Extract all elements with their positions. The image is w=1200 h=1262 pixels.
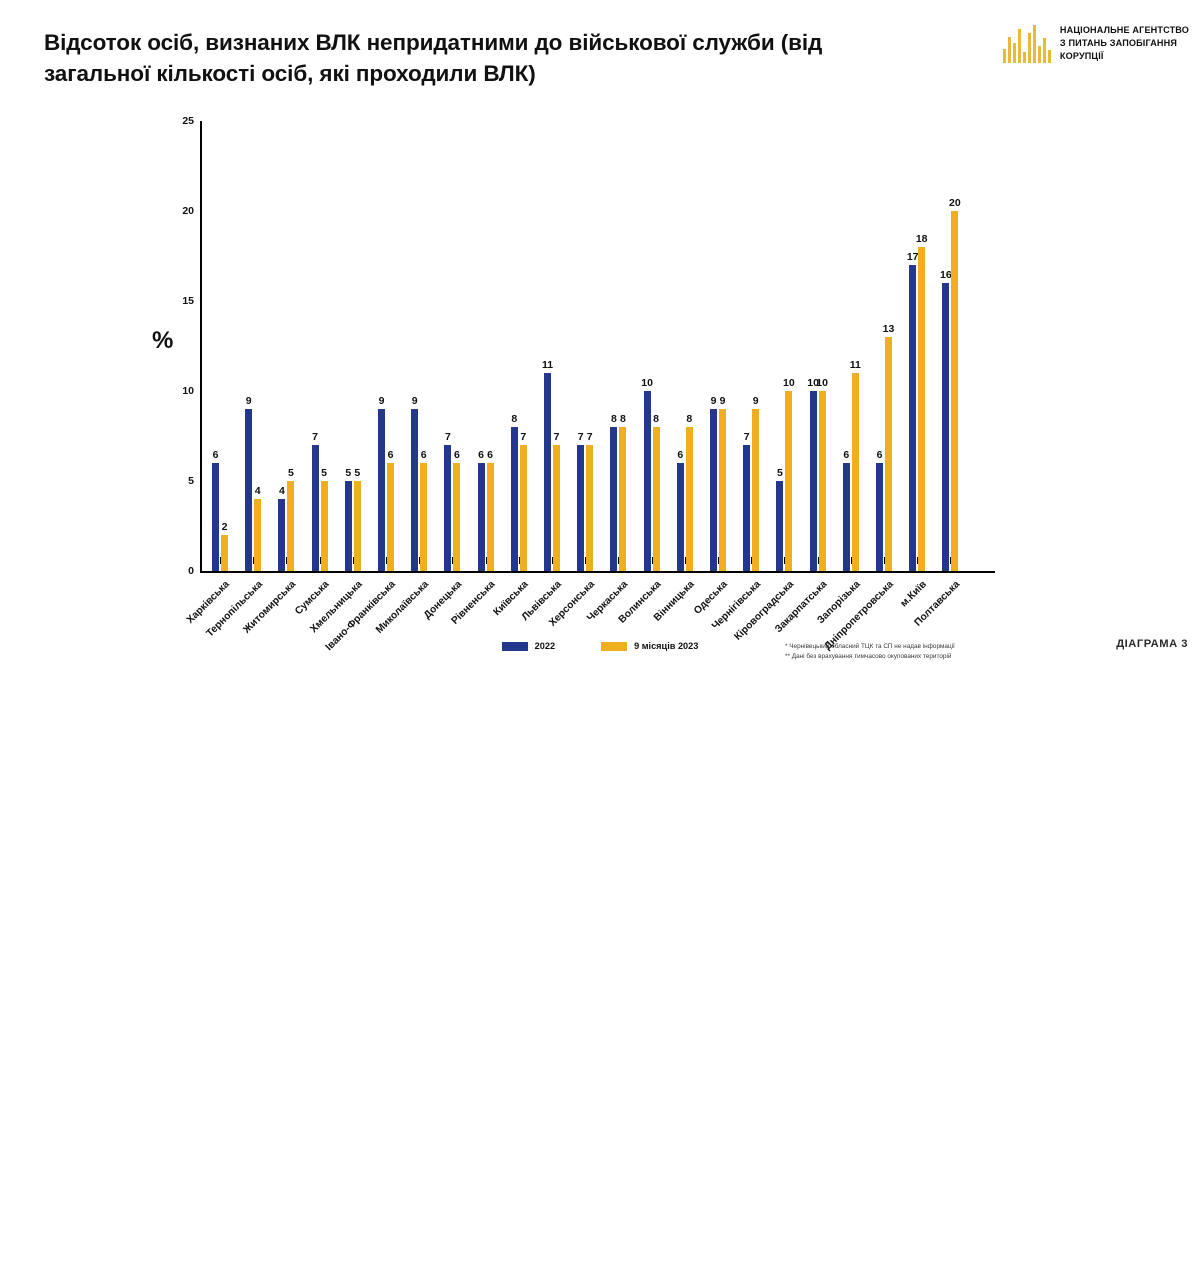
- bar-value-label: 10: [783, 377, 795, 389]
- y-axis-tick-label: 25: [160, 115, 194, 127]
- bar-2023: 9: [752, 409, 759, 571]
- bar-2023: 9: [719, 409, 726, 571]
- organization-logo: НАЦІОНАЛЬНЕ АГЕНТСТВО З ПИТАНЬ ЗАПОБІГАН…: [1003, 24, 1189, 64]
- bar-2023: 8: [653, 427, 660, 571]
- bar-2022: 5: [345, 481, 352, 571]
- x-axis-line: [200, 571, 995, 573]
- bar-group: 108: [644, 121, 662, 571]
- x-axis-tick: [851, 557, 852, 564]
- bar-group: 75: [312, 121, 330, 571]
- bar-value-label: 5: [288, 467, 294, 479]
- bar-group: 117: [544, 121, 562, 571]
- bar-value-label: 8: [611, 413, 617, 425]
- diagram-caption: ДІАГРАМА 3: [1116, 638, 1188, 650]
- bar-value-label: 9: [246, 395, 252, 407]
- bar-2022: 7: [743, 445, 750, 571]
- bar-value-label: 6: [421, 449, 427, 461]
- bar-value-label: 7: [554, 431, 560, 443]
- bar-value-label: 9: [379, 395, 385, 407]
- bar-2022: 7: [444, 445, 451, 571]
- bar-value-label: 5: [345, 467, 351, 479]
- bar-group: 96: [411, 121, 429, 571]
- bar-2023: 7: [586, 445, 593, 571]
- x-axis-tick: [552, 557, 553, 564]
- bar-group: 510: [776, 121, 794, 571]
- bar-group: 1010: [810, 121, 828, 571]
- bar-group: 76: [444, 121, 462, 571]
- x-axis-tick: [585, 557, 586, 564]
- bar-2023: 6: [420, 463, 427, 571]
- plot-area: 6294457555969676668711777881086899795101…: [200, 121, 1000, 571]
- bar-group: 55: [345, 121, 363, 571]
- bar-group: 613: [876, 121, 894, 571]
- bar-value-label: 10: [641, 377, 653, 389]
- bar-2023: 7: [553, 445, 560, 571]
- bar-group: 87: [511, 121, 529, 571]
- bar-value-label: 6: [843, 449, 849, 461]
- x-axis-tick: [220, 557, 221, 564]
- y-axis-title: %: [152, 327, 173, 355]
- x-axis-tick: [419, 557, 420, 564]
- x-axis-tick: [486, 557, 487, 564]
- bar-2022: 10: [810, 391, 817, 571]
- bar-2022: 9: [245, 409, 252, 571]
- y-axis-tick-label: 15: [160, 295, 194, 307]
- bar-value-label: 7: [520, 431, 526, 443]
- bar-value-label: 4: [255, 485, 261, 497]
- chart-footnotes: * Чернівецький обласний ТЦК та СП не над…: [785, 642, 955, 662]
- bar-2022: 9: [710, 409, 717, 571]
- x-axis-tick: [286, 557, 287, 564]
- bar-value-label: 5: [777, 467, 783, 479]
- bar-value-label: 6: [388, 449, 394, 461]
- x-axis-tick: [386, 557, 387, 564]
- bar-group: 611: [843, 121, 861, 571]
- bar-2022: 5: [776, 481, 783, 571]
- bar-2022: 6: [478, 463, 485, 571]
- bar-value-label: 8: [686, 413, 692, 425]
- bar-2022: 9: [411, 409, 418, 571]
- bar-2022: 6: [212, 463, 219, 571]
- bar-value-label: 13: [883, 323, 895, 335]
- bar-value-label: 11: [542, 359, 553, 371]
- bar-value-label: 10: [816, 377, 828, 389]
- bar-2023: 5: [287, 481, 294, 571]
- bar-group: 62: [212, 121, 230, 571]
- bar-2023: 7: [520, 445, 527, 571]
- bar-value-label: 6: [877, 449, 883, 461]
- bar-value-label: 8: [620, 413, 626, 425]
- bar-2023: 11: [852, 373, 859, 571]
- chart-container: % 0510152025 629445755596967666871177788…: [0, 105, 1200, 671]
- bar-value-label: 9: [711, 395, 717, 407]
- bar-group: 1718: [909, 121, 927, 571]
- bar-2023: 20: [951, 211, 958, 571]
- bar-group: 45: [278, 121, 296, 571]
- bar-group: 99: [710, 121, 728, 571]
- bar-2023: 10: [785, 391, 792, 571]
- x-axis-tick: [618, 557, 619, 564]
- bar-value-label: 9: [412, 395, 418, 407]
- x-axis-tick: [652, 557, 653, 564]
- page-title: Відсоток осіб, визнаних ВЛК непридатними…: [44, 28, 864, 89]
- x-axis-tick: [884, 557, 885, 564]
- bar-value-label: 6: [213, 449, 219, 461]
- bar-2022: 7: [312, 445, 319, 571]
- bar-value-label: 6: [454, 449, 460, 461]
- bar-2023: 13: [885, 337, 892, 571]
- bar-value-label: 9: [753, 395, 759, 407]
- bar-value-label: 6: [487, 449, 493, 461]
- x-axis-tick: [718, 557, 719, 564]
- bar-value-label: 6: [677, 449, 683, 461]
- bar-value-label: 7: [312, 431, 318, 443]
- bar-2022: 16: [942, 283, 949, 571]
- bar-2022: 11: [544, 373, 551, 571]
- bar-value-label: 16: [940, 269, 952, 281]
- bar-value-label: 5: [354, 467, 360, 479]
- y-axis-tick-label: 20: [160, 205, 194, 217]
- y-axis-tick-label: 0: [160, 565, 194, 577]
- logo-text: НАЦІОНАЛЬНЕ АГЕНТСТВО З ПИТАНЬ ЗАПОБІГАН…: [1060, 24, 1189, 64]
- bar-2022: 17: [909, 265, 916, 571]
- bar-2023: 6: [487, 463, 494, 571]
- bar-group: 96: [378, 121, 396, 571]
- x-axis-category-label: Дніпропетровська: [260, 579, 896, 1215]
- bar-group: 88: [610, 121, 628, 571]
- x-axis-tick: [950, 557, 951, 564]
- bar-2022: 6: [876, 463, 883, 571]
- x-axis-tick: [685, 557, 686, 564]
- y-axis-tick-label: 10: [160, 385, 194, 397]
- bar-value-label: 8: [653, 413, 659, 425]
- bar-group: 1620: [942, 121, 960, 571]
- bar-group: 66: [478, 121, 496, 571]
- bar-2023: 6: [387, 463, 394, 571]
- bar-2022: 10: [644, 391, 651, 571]
- bar-2023: 2: [221, 535, 228, 571]
- bar-2023: 10: [819, 391, 826, 571]
- bar-2022: 4: [278, 499, 285, 571]
- bar-2023: 5: [321, 481, 328, 571]
- bar-2022: 8: [511, 427, 518, 571]
- bar-value-label: 8: [511, 413, 517, 425]
- bar-value-label: 18: [916, 233, 928, 245]
- bar-value-label: 4: [279, 485, 285, 497]
- bar-2023: 18: [918, 247, 925, 571]
- x-axis-tick: [253, 557, 254, 564]
- x-axis-tick: [519, 557, 520, 564]
- bar-2023: 4: [254, 499, 261, 571]
- bar-group: 79: [743, 121, 761, 571]
- bar-2022: 7: [577, 445, 584, 571]
- bar-group: 68: [677, 121, 695, 571]
- bar-value-label: 7: [445, 431, 451, 443]
- bar-2022: 9: [378, 409, 385, 571]
- bar-2023: 8: [686, 427, 693, 571]
- y-axis-tick-label: 5: [160, 475, 194, 487]
- bar-2022: 6: [843, 463, 850, 571]
- x-axis-tick: [784, 557, 785, 564]
- bar-value-label: 20: [949, 197, 961, 209]
- bar-group: 94: [245, 121, 263, 571]
- bars-logo-icon: [1003, 25, 1051, 63]
- bar-2023: 5: [354, 481, 361, 571]
- x-axis-tick: [751, 557, 752, 564]
- bar-value-label: 17: [907, 251, 919, 263]
- bar-value-label: 7: [587, 431, 593, 443]
- x-axis-tick: [917, 557, 918, 564]
- x-axis-tick: [452, 557, 453, 564]
- bar-value-label: 7: [578, 431, 584, 443]
- page-header: Відсоток осіб, визнаних ВЛК непридатними…: [0, 0, 1200, 105]
- bar-2023: 8: [619, 427, 626, 571]
- bar-value-label: 11: [850, 359, 861, 371]
- bar-value-label: 9: [720, 395, 726, 407]
- bar-group: 77: [577, 121, 595, 571]
- bar-2022: 6: [677, 463, 684, 571]
- x-axis-tick: [818, 557, 819, 564]
- bar-2022: 8: [610, 427, 617, 571]
- bar-value-label: 6: [478, 449, 484, 461]
- x-axis-tick: [353, 557, 354, 564]
- bar-2023: 6: [453, 463, 460, 571]
- bar-value-label: 2: [222, 521, 228, 533]
- x-axis-tick: [320, 557, 321, 564]
- bar-value-label: 7: [744, 431, 750, 443]
- bar-value-label: 5: [321, 467, 327, 479]
